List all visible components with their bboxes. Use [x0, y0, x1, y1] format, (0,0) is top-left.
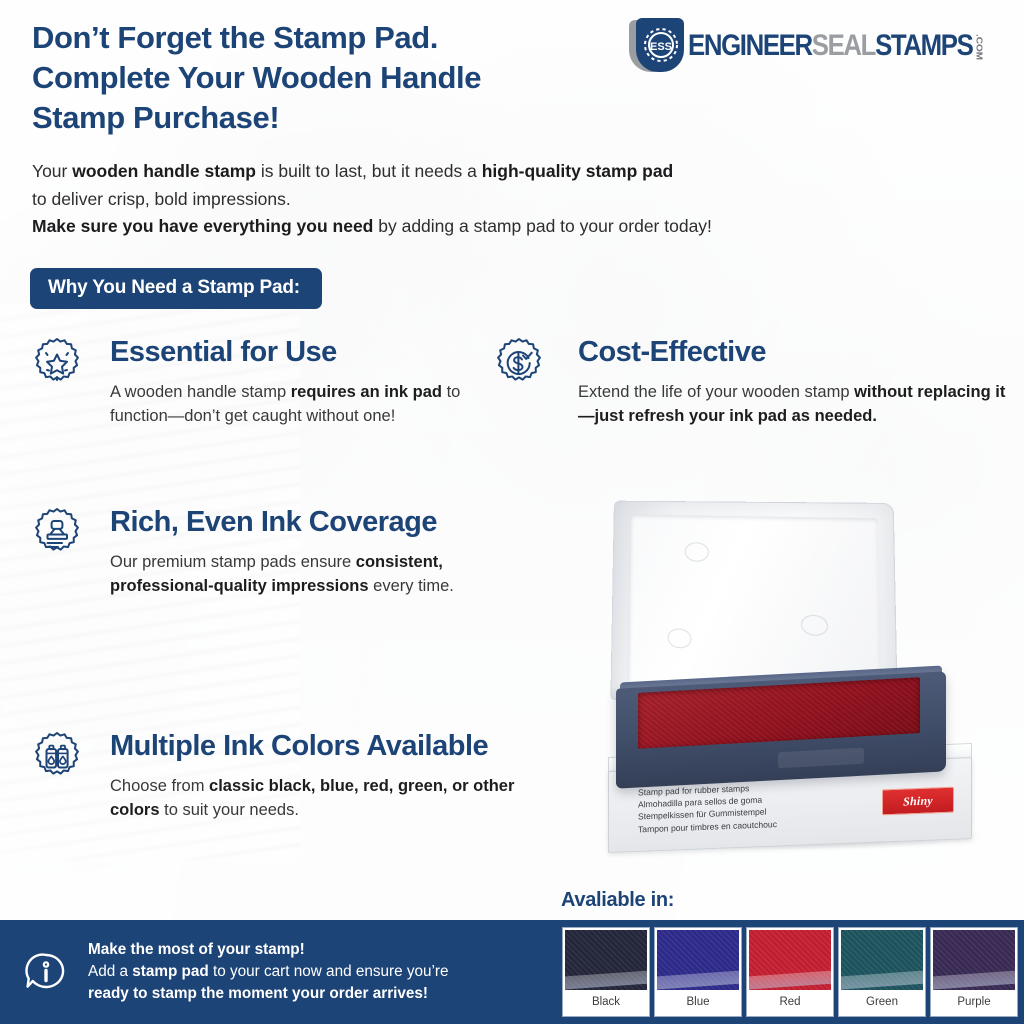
- footer-line-1: Make the most of your stamp!: [88, 939, 449, 961]
- feature-body: Choose from classic black, blue, red, gr…: [110, 774, 548, 823]
- badge-star-icon: [28, 336, 86, 394]
- swatch-color-fill: [933, 930, 1015, 990]
- intro-line-3: Make sure you have everything you need b…: [32, 213, 912, 241]
- footer-cta-banner: Make the most of your stamp! Add a stamp…: [0, 920, 556, 1024]
- lid-dimple: [801, 614, 828, 636]
- swatch-label: Red: [749, 990, 831, 1014]
- logo-word-dotcom: .COM: [974, 34, 983, 60]
- feature-body: Our premium stamp pads ensure consistent…: [110, 550, 483, 599]
- badge-dollar-check-icon: [490, 336, 548, 394]
- page-headline: Don’t Forget the Stamp Pad. Complete You…: [32, 18, 652, 138]
- intro-text: is built to last, but it needs a: [256, 161, 482, 181]
- svg-text:ESS: ESS: [650, 41, 672, 53]
- feature-title: Essential for Use: [110, 336, 483, 370]
- intro-strong: Make sure you have everything you need: [32, 216, 373, 236]
- swatch-green[interactable]: Green: [839, 928, 925, 1016]
- swatch-label: Purple: [933, 990, 1015, 1014]
- swatch-red[interactable]: Red: [747, 928, 833, 1016]
- brand-logo: ESS ENGINEER SEAL STAMPS .COM: [628, 18, 1000, 74]
- feature-text: A wooden handle stamp: [110, 383, 291, 401]
- footer-strong: ready to stamp the moment your order arr…: [88, 985, 428, 1002]
- intro-strong: high-quality stamp pad: [482, 161, 674, 181]
- swatch-blue[interactable]: Blue: [655, 928, 741, 1016]
- lid-dimple: [685, 542, 709, 562]
- intro-text: by adding a stamp pad to your order toda…: [373, 216, 712, 236]
- feature-body: A wooden handle stamp requires an ink pa…: [110, 380, 483, 429]
- footer-text: Add a: [88, 963, 132, 980]
- intro-strong: wooden handle stamp: [72, 161, 256, 181]
- feature-rich-even-ink-coverage: Rich, Even Ink Coverage Our premium stam…: [28, 506, 483, 599]
- section-pill-why-you-need: Why You Need a Stamp Pad:: [30, 268, 322, 309]
- shiny-brand-logo: Shiny: [882, 787, 954, 816]
- badge-ink-bottles-icon: [28, 730, 86, 788]
- feature-text: Extend the life of your wooden stamp: [578, 383, 854, 401]
- swatch-color-fill: [841, 930, 923, 990]
- intro-paragraph: Your wooden handle stamp is built to las…: [32, 158, 912, 241]
- feature-text: every time.: [369, 577, 454, 595]
- footer-text: to your cart now and ensure you’re: [209, 963, 449, 980]
- ess-shield-icon: ESS: [628, 18, 684, 74]
- swatch-color-fill: [749, 930, 831, 990]
- footer-line-3: ready to stamp the moment your order arr…: [88, 983, 449, 1005]
- feature-cost-effective: Cost-Effective Extend the life of your w…: [490, 336, 1010, 429]
- info-bubble-icon: [22, 948, 70, 996]
- headline-line-1: Don’t Forget the Stamp Pad.: [32, 18, 652, 58]
- intro-text: Your: [32, 161, 72, 181]
- swatch-label: Green: [841, 990, 923, 1014]
- footer-strong: stamp pad: [132, 963, 209, 980]
- feature-essential-for-use: Essential for Use A wooden handle stamp …: [28, 336, 483, 429]
- logo-word-engineer: ENGINEER: [688, 31, 812, 61]
- footer-cta-text: Make the most of your stamp! Add a stamp…: [88, 939, 449, 1004]
- swatch-label: Black: [565, 990, 647, 1014]
- footer-strong: Make the most of your stamp!: [88, 941, 305, 958]
- intro-line-1: Your wooden handle stamp is built to las…: [32, 158, 912, 186]
- feature-title: Multiple Ink Colors Available: [110, 730, 548, 764]
- lid-dimple: [667, 628, 691, 649]
- logo-word-seal: SEAL: [812, 31, 875, 61]
- available-in-title: Avaliable in:: [561, 889, 674, 912]
- footer-line-2: Add a stamp pad to your cart now and ens…: [88, 961, 449, 983]
- feature-strong: requires an ink pad: [291, 383, 442, 401]
- feature-title: Rich, Even Ink Coverage: [110, 506, 483, 540]
- feature-title: Cost-Effective: [578, 336, 1010, 370]
- retail-box-text: Stamp pad for rubber stamps Almohadilla …: [638, 778, 870, 836]
- infographic-page: Don’t Forget the Stamp Pad. Complete You…: [0, 0, 1024, 1024]
- feature-text: to suit your needs.: [160, 801, 299, 819]
- feature-body: Extend the life of your wooden stamp wit…: [578, 380, 1010, 429]
- swatch-color-fill: [657, 930, 739, 990]
- product-photo-stamp-pad: Stamp pad for rubber stamps Almohadilla …: [560, 492, 1012, 892]
- swatch-color-fill: [565, 930, 647, 990]
- headline-line-3: Stamp Purchase!: [32, 98, 652, 138]
- intro-line-2: to deliver crisp, bold impressions.: [32, 186, 912, 214]
- feature-text: Our premium stamp pads ensure: [110, 553, 356, 571]
- swatch-black[interactable]: Black: [563, 928, 649, 1016]
- headline-line-2: Complete Your Wooden Handle: [32, 58, 652, 98]
- feature-multiple-ink-colors: Multiple Ink Colors Available Choose fro…: [28, 730, 548, 823]
- feature-text: Choose from: [110, 777, 209, 795]
- swatch-label: Blue: [657, 990, 739, 1014]
- badge-stamp-icon: [28, 506, 86, 564]
- swatch-purple[interactable]: Purple: [931, 928, 1017, 1016]
- logo-word-stamps: STAMPS: [875, 31, 972, 61]
- color-swatch-bar: Black Blue Red Green Purple: [556, 920, 1024, 1024]
